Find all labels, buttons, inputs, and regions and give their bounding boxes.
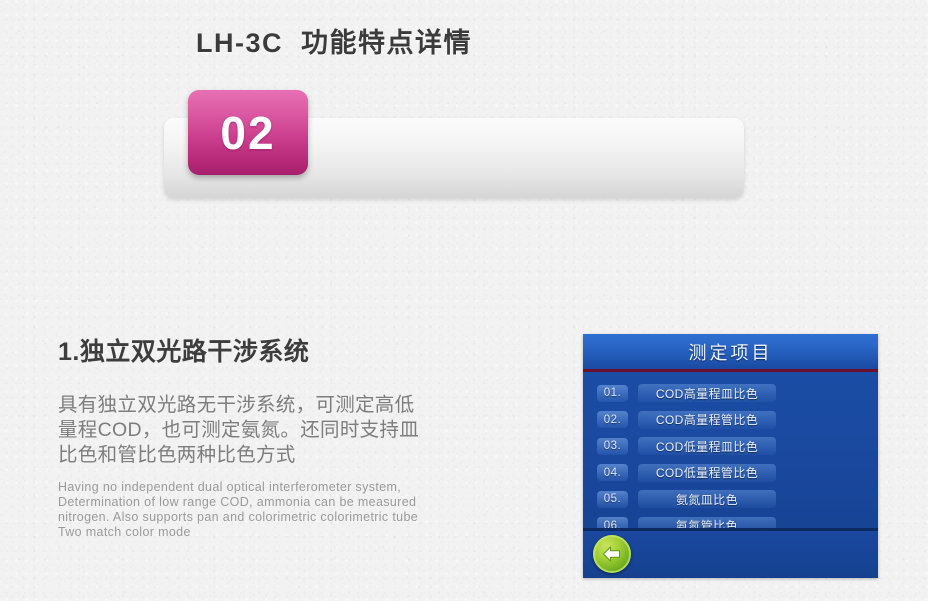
feature-heading: 1.独立双光路干涉系统	[58, 339, 438, 367]
list-item-label: 氨氮皿比色	[638, 490, 776, 508]
device-screen-title: 测定项目	[689, 339, 773, 365]
list-item-label: COD高量程皿比色	[638, 384, 776, 402]
list-item[interactable]: 02. COD高量程管比色	[583, 407, 878, 434]
list-item-number: 03.	[597, 438, 628, 455]
list-item[interactable]: 01. COD高量程皿比色	[583, 380, 878, 407]
back-button[interactable]	[593, 535, 631, 573]
list-item-number: 02.	[597, 411, 628, 428]
arrow-left-icon	[601, 544, 623, 564]
list-item-label: COD低量程皿比色	[638, 437, 776, 455]
list-item-label: COD高量程管比色	[638, 411, 776, 429]
device-screen-panel: 测定项目 01. COD高量程皿比色 02. COD高量程管比色 03. COD…	[583, 334, 878, 578]
feature-description-english: Having no independent dual optical inter…	[58, 480, 430, 540]
feature-text-block: 1.独立双光路干涉系统 具有独立双光路无干涉系统，可测定高低量程COD，也可测定…	[58, 339, 438, 540]
device-screen-header: 测定项目	[583, 334, 878, 372]
list-item-number: 05.	[597, 491, 628, 508]
feature-description-chinese: 具有独立双光路无干涉系统，可测定高低量程COD，也可测定氨氮。还同时支持皿比色和…	[58, 393, 420, 468]
section-header-title: LH-3C 功能特点详情	[196, 0, 472, 80]
section-number-badge-text: 02	[220, 110, 275, 156]
device-screen-footer	[583, 528, 878, 578]
section-number-badge: 02	[188, 90, 308, 175]
measurement-item-list: 01. COD高量程皿比色 02. COD高量程管比色 03. COD低量程皿比…	[583, 372, 878, 539]
list-item-number: 01.	[597, 385, 628, 402]
list-item-label: COD低量程管比色	[638, 464, 776, 482]
list-item-number: 04.	[597, 464, 628, 481]
list-item[interactable]: 04. COD低量程管比色	[583, 460, 878, 487]
list-item[interactable]: 05. 氨氮皿比色	[583, 486, 878, 513]
list-item[interactable]: 03. COD低量程皿比色	[583, 433, 878, 460]
